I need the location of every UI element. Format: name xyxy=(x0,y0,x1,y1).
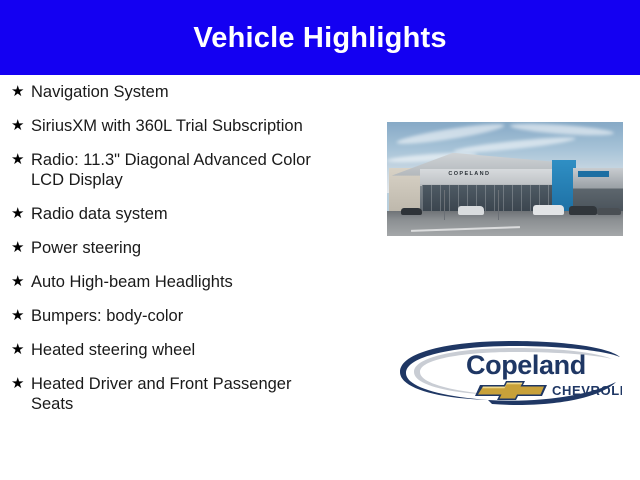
parked-car xyxy=(458,206,484,215)
list-item: ★ Radio data system xyxy=(8,204,368,224)
star-bullet-icon: ★ xyxy=(8,116,31,136)
list-item: ★ Navigation System xyxy=(8,82,368,102)
list-item: ★ Heated Driver and Front Passenger Seat… xyxy=(8,374,368,414)
feature-label: Auto High-beam Headlights xyxy=(31,272,368,292)
copeland-chevrolet-logo: Copeland CHEVROLET xyxy=(392,338,622,410)
list-item: ★ Power steering xyxy=(8,238,368,258)
building-right-sign xyxy=(578,171,609,177)
logo-svg: Copeland CHEVROLET xyxy=(392,338,622,410)
list-item: ★ Heated steering wheel xyxy=(8,340,368,360)
logo-sub-brand-text: CHEVROLET xyxy=(552,383,622,398)
light-pole xyxy=(498,190,499,220)
parked-car xyxy=(401,208,422,216)
feature-label: Power steering xyxy=(31,238,368,258)
star-bullet-icon: ★ xyxy=(8,150,31,170)
building-sign-text: COPELAND xyxy=(448,172,490,178)
feature-label: Bumpers: body-color xyxy=(31,306,368,326)
star-bullet-icon: ★ xyxy=(8,306,31,326)
feature-label: Navigation System xyxy=(31,82,368,102)
vehicle-features-list: ★ Navigation System ★ SiriusXM with 360L… xyxy=(8,82,368,428)
slide-header-band: Vehicle Highlights xyxy=(0,0,640,75)
parked-car xyxy=(569,206,597,215)
list-item: ★ Auto High-beam Headlights xyxy=(8,272,368,292)
feature-label: Radio: 11.3" Diagonal Advanced Color LCD… xyxy=(31,150,368,190)
parked-car xyxy=(597,208,621,216)
list-item: ★ Radio: 11.3" Diagonal Advanced Color L… xyxy=(8,150,368,190)
vehicle-highlights-slide: Vehicle Highlights ★ Navigation System ★… xyxy=(0,0,640,480)
logo-brand-text: Copeland xyxy=(466,350,586,380)
page-title: Vehicle Highlights xyxy=(193,24,446,53)
star-bullet-icon: ★ xyxy=(8,204,31,224)
parked-car xyxy=(533,205,564,215)
feature-label: Radio data system xyxy=(31,204,368,224)
feature-label: Heated Driver and Front Passenger Seats xyxy=(31,374,368,414)
list-item: ★ SiriusXM with 360L Trial Subscription xyxy=(8,116,368,136)
feature-label: Heated steering wheel xyxy=(31,340,368,360)
light-pole xyxy=(444,190,445,220)
dealership-photo: COPELAND xyxy=(387,122,623,236)
star-bullet-icon: ★ xyxy=(8,340,31,360)
star-bullet-icon: ★ xyxy=(8,82,31,102)
star-bullet-icon: ★ xyxy=(8,374,31,394)
star-bullet-icon: ★ xyxy=(8,238,31,258)
chevy-bowtie-icon xyxy=(475,381,547,400)
feature-label: SiriusXM with 360L Trial Subscription xyxy=(31,116,368,136)
star-bullet-icon: ★ xyxy=(8,272,31,292)
list-item: ★ Bumpers: body-color xyxy=(8,306,368,326)
